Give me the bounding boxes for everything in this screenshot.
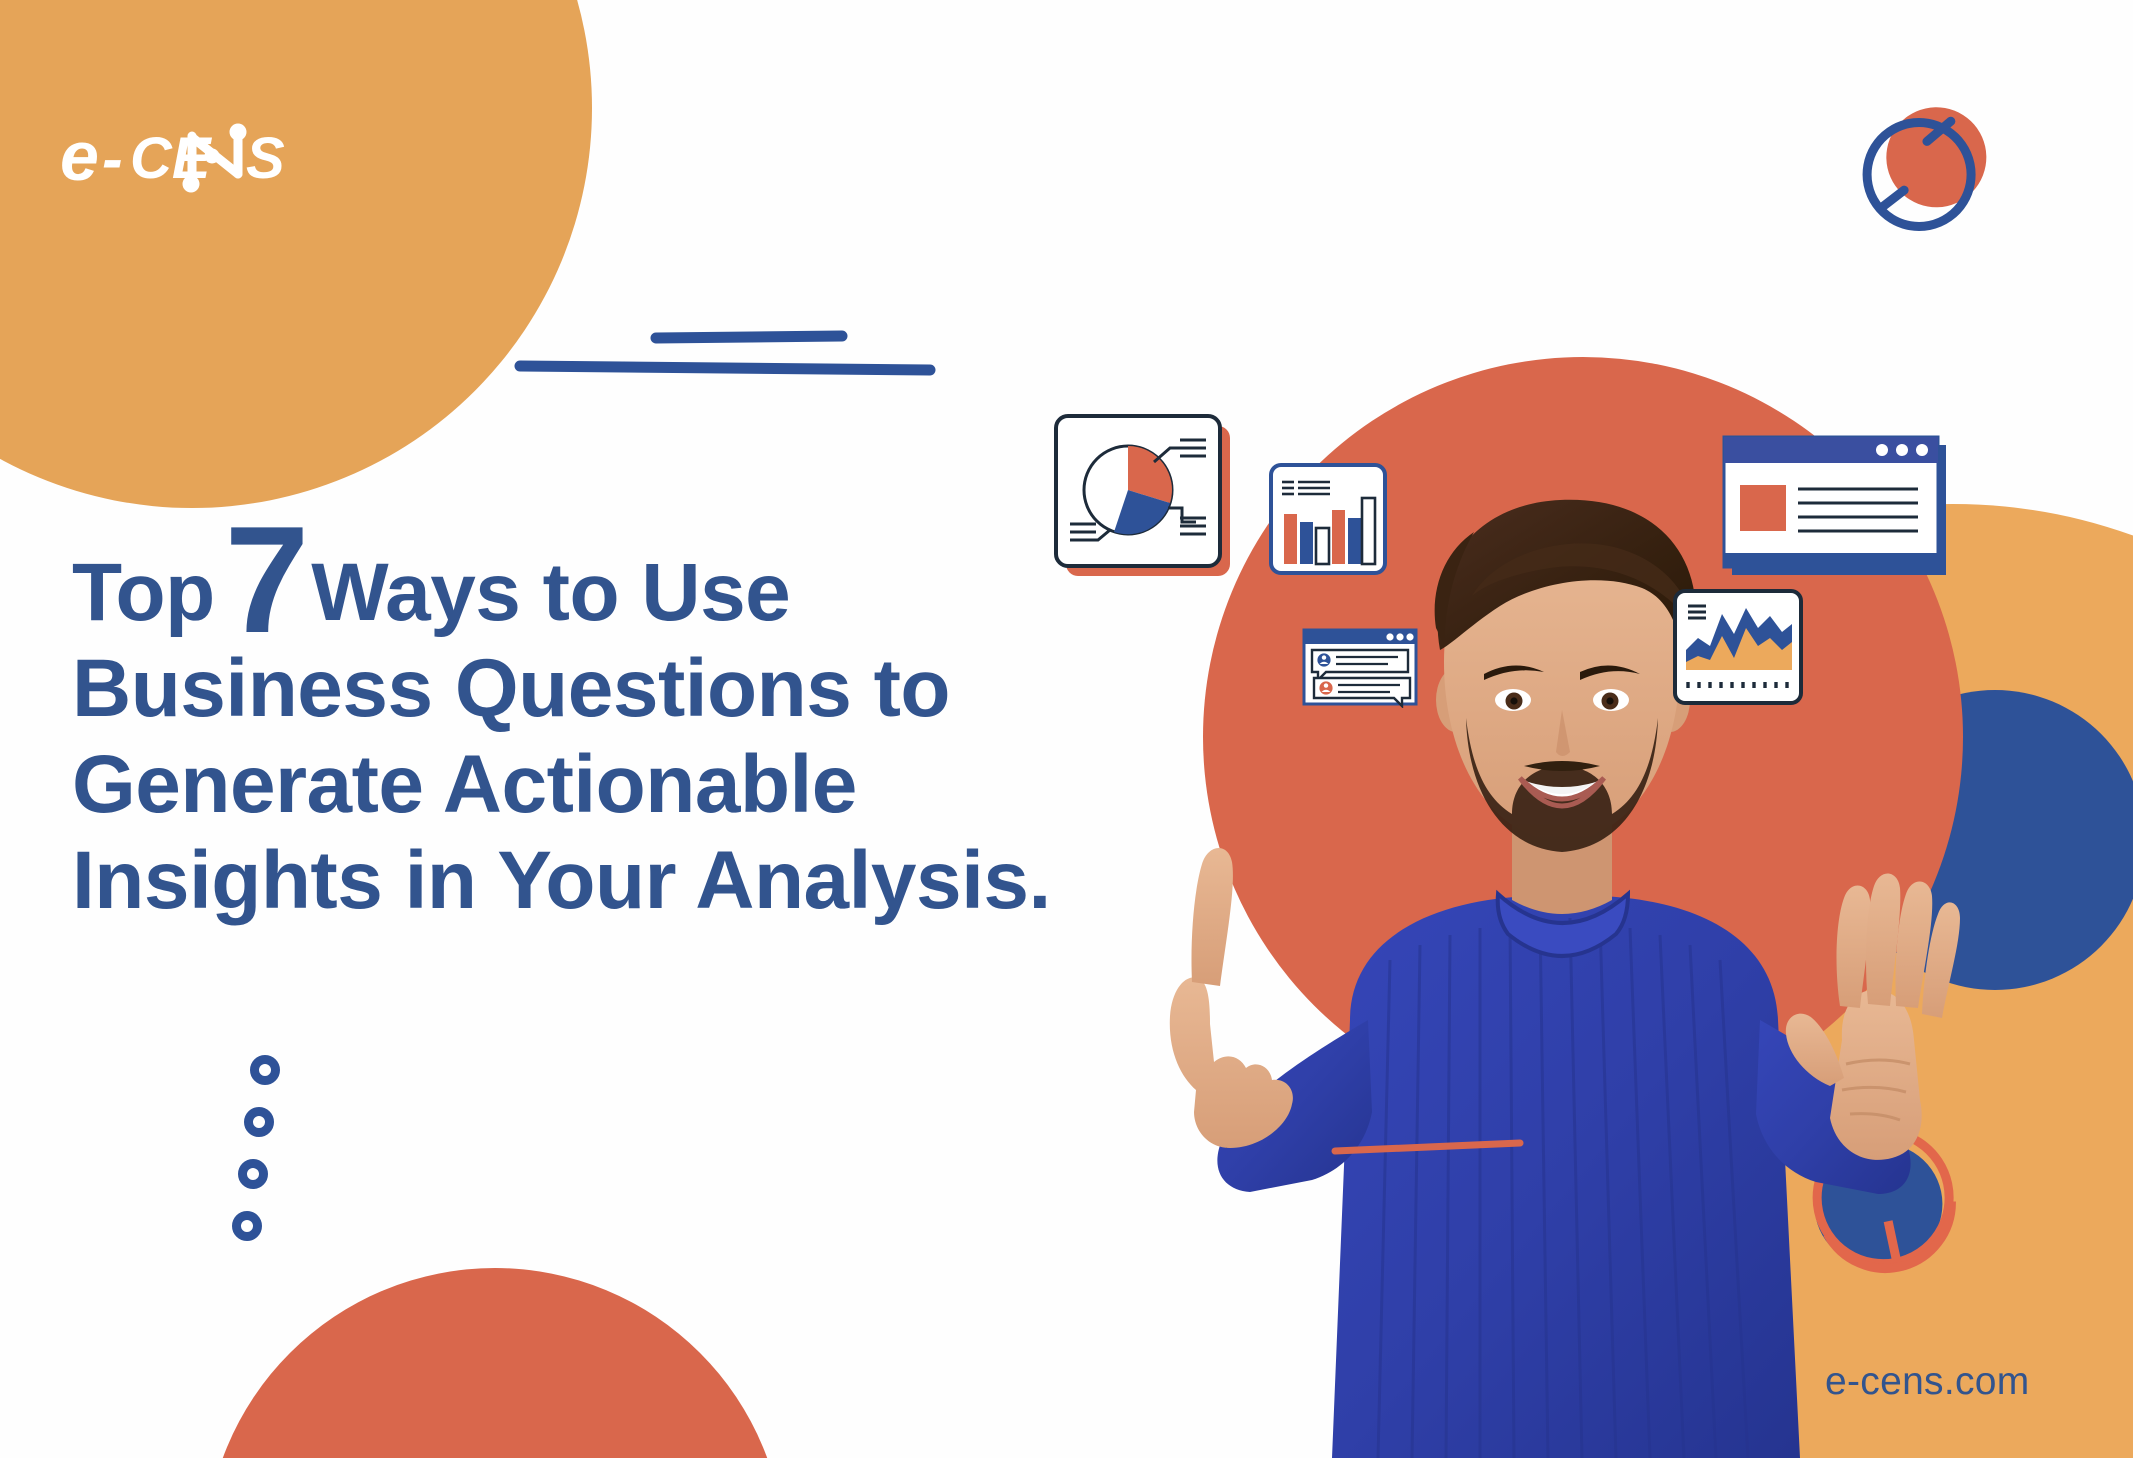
website-url[interactable]: e-cens.com: [1825, 1360, 2030, 1404]
logo-network-n-icon: [183, 124, 247, 193]
logo-hyphen: -: [102, 125, 123, 194]
coral-bottom-left-circle: [205, 1268, 785, 1458]
logo-letters-ce: CE: [130, 126, 213, 191]
headline-line-4: Insights in Your Analysis.: [72, 833, 1132, 929]
orange-corner-circle: [0, 0, 592, 508]
accent-line: [1330, 1138, 1525, 1156]
area-chart-card: [1672, 588, 1807, 708]
deco-line-long: [520, 366, 930, 370]
browser-window-card: [1722, 435, 1952, 580]
headline-prefix: Top: [72, 547, 215, 638]
logo[interactable]: e - CE S: [60, 118, 390, 208]
headline-line1-rest: Ways to Use: [311, 547, 790, 638]
headline-line-1: Top7Ways to Use: [72, 545, 1132, 641]
ring-dot: [250, 1055, 280, 1085]
messages-card: [1302, 628, 1420, 708]
pie-ring-badge-icon: [1792, 1112, 1972, 1292]
ring-dot: [238, 1159, 268, 1189]
page-title: Top7Ways to Use Business Questions to Ge…: [72, 545, 1132, 929]
logo-letter-e: e: [60, 117, 99, 195]
logo-letter-s: S: [246, 126, 285, 191]
ring-dot: [244, 1107, 274, 1137]
bar-chart-card: [1268, 462, 1398, 592]
circle-ring-badge-icon: [1838, 80, 2018, 260]
decorative-lines: [500, 300, 970, 410]
decorative-dots: [228, 1055, 308, 1245]
banner-canvas: e - CE S: [0, 0, 2133, 1458]
deco-line-short: [656, 336, 842, 338]
ring-dot: [232, 1211, 262, 1241]
headline-line-3: Generate Actionable: [72, 737, 1132, 833]
